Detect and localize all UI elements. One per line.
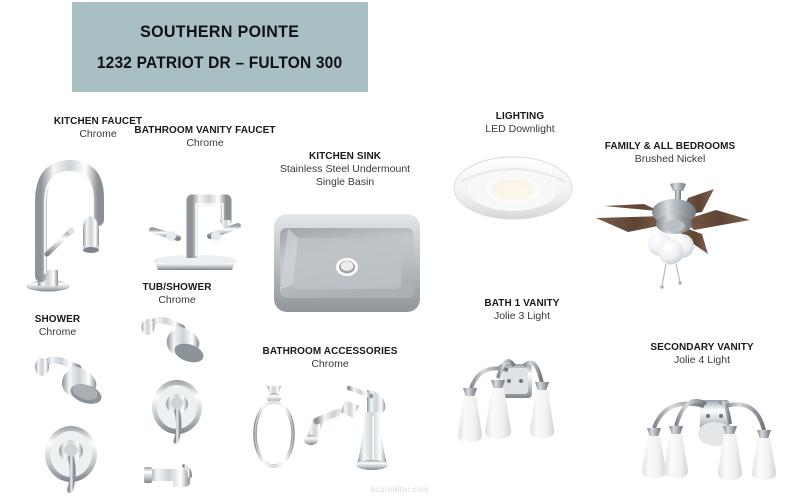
bath-1-vanity-title: BATH 1 VANITY	[437, 297, 608, 310]
watermark: bcsrealtor.com	[0, 485, 800, 494]
bathroom-vanity-faucet-icon	[140, 160, 250, 275]
shower-icon	[26, 352, 116, 498]
vanity-4-light-icon	[628, 378, 796, 490]
bathroom-accessories-icon	[245, 382, 397, 478]
caption-ceiling-fan: FAMILY & ALL BEDROOMS Brushed Nickel	[560, 140, 780, 166]
ceiling-fan-title: FAMILY & ALL BEDROOMS	[566, 140, 775, 153]
caption-shower: SHOWER Chrome	[5, 313, 110, 339]
caption-bathroom-accessories: BATHROOM ACCESSORIES Chrome	[235, 345, 425, 371]
kitchen-sink-sub-2: Single Basin	[250, 176, 440, 189]
caption-bath-1-vanity: BATH 1 VANITY Jolie 3 Light	[432, 297, 612, 323]
secondary-vanity-sub: Jolie 4 Light	[612, 354, 792, 367]
shower-title: SHOWER	[8, 313, 108, 326]
address-line: 1232 PATRIOT DR – FULTON 300	[97, 54, 342, 73]
header-banner: SOUTHERN POINTE 1232 PATRIOT DR – FULTON…	[72, 2, 368, 92]
bathroom-accessories-title: BATHROOM ACCESSORIES	[240, 345, 421, 358]
kitchen-faucet-icon	[18, 150, 123, 295]
caption-kitchen-sink: KITCHEN SINK Stainless Steel Undermount …	[250, 150, 440, 188]
lighting-title: LIGHTING	[435, 110, 606, 123]
tub-shower-icon	[134, 314, 226, 490]
kitchen-sink-sub-1: Stainless Steel Undermount	[250, 163, 440, 176]
tub-shower-sub: Chrome	[112, 294, 242, 307]
caption-tub-shower: TUB/SHOWER Chrome	[112, 281, 242, 307]
kitchen-sink-icon	[272, 212, 422, 317]
caption-secondary-vanity: SECONDARY VANITY Jolie 4 Light	[612, 341, 792, 367]
finishes-board: SOUTHERN POINTE 1232 PATRIOT DR – FULTON…	[0, 0, 800, 500]
kitchen-sink-title: KITCHEN SINK	[255, 150, 436, 163]
secondary-vanity-title: SECONDARY VANITY	[617, 341, 788, 354]
caption-lighting: LIGHTING LED Downlight	[430, 110, 610, 136]
caption-bathroom-vanity-faucet: BATHROOM VANITY FAUCET Chrome	[110, 124, 300, 150]
led-downlight-icon	[452, 152, 574, 224]
vanity-3-light-icon	[446, 336, 576, 456]
bathroom-vanity-faucet-title: BATHROOM VANITY FAUCET	[115, 124, 296, 137]
ceiling-fan-icon	[584, 182, 796, 290]
tub-shower-title: TUB/SHOWER	[115, 281, 239, 294]
lighting-sub: LED Downlight	[430, 123, 610, 136]
bathroom-accessories-sub: Chrome	[235, 358, 425, 371]
ceiling-fan-sub: Brushed Nickel	[560, 153, 780, 166]
shower-sub: Chrome	[5, 326, 110, 339]
bathroom-vanity-faucet-sub: Chrome	[110, 137, 300, 150]
community-name: SOUTHERN POINTE	[140, 22, 299, 42]
bath-1-vanity-sub: Jolie 3 Light	[432, 310, 612, 323]
